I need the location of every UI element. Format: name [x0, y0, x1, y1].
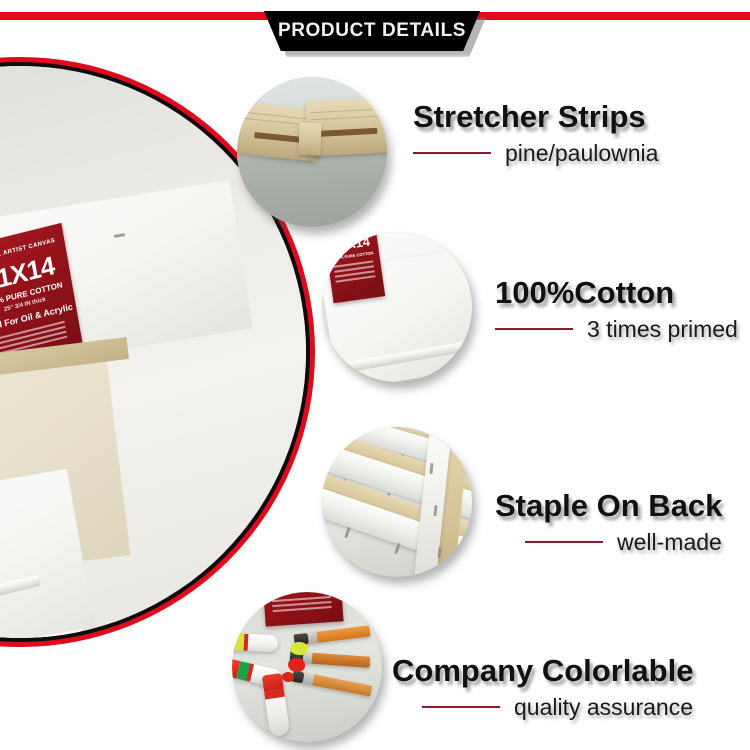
feature-subheading: 3 times primed: [587, 316, 738, 343]
feature-subheading-row: pine/paulownia: [413, 140, 658, 167]
feature-subheading-row: 3 times primed: [495, 316, 738, 343]
paint-tubes-and-brushes-photo: [232, 592, 382, 742]
tube-band: [264, 689, 285, 699]
product-details-infographic: PRODUCT DETAILS TENCEL ARTIST CANVAS 11X…: [0, 0, 750, 750]
paint-blob-yellow: [290, 642, 308, 655]
accent-rule: [525, 541, 603, 543]
feature-text-company-colorlable: Company Colorlable quality assurance: [392, 655, 693, 721]
strip-groove: [311, 115, 387, 121]
feature-heading: 100%Cotton: [495, 277, 738, 310]
label-detail-lines: [334, 260, 376, 285]
stapled-canvas-backs-photo: [322, 427, 472, 577]
feature-heading: Stretcher Strips: [413, 101, 658, 134]
paint-blob-red: [288, 658, 305, 672]
accent-rule: [495, 328, 573, 330]
paint-blob-red-small: [282, 672, 294, 682]
strip-groove: [310, 108, 387, 114]
brush-ferrule: [307, 632, 317, 644]
feature-image-company-colorlable: [232, 592, 382, 742]
paint-tube-yellow: [232, 632, 278, 652]
card-detail-lines: [272, 596, 332, 615]
tube-color-swatch: [235, 633, 245, 650]
pine-strip-tenon: [298, 123, 321, 156]
feature-text-staple-on-back: Staple On Back well-made: [495, 490, 722, 556]
red-product-card: [262, 592, 343, 627]
brush-ferrule: [303, 673, 315, 686]
feature-heading: Company Colorlable: [392, 655, 693, 688]
feature-image-cotton: TENCEL ARTIST CANVAS 11X14 100% PURE COT…: [322, 232, 472, 382]
feature-heading: Staple On Back: [495, 490, 722, 523]
feature-subheading: well-made: [617, 529, 722, 556]
feature-text-cotton: 100%Cotton 3 times primed: [495, 277, 738, 343]
banner-title: PRODUCT DETAILS: [258, 11, 486, 51]
feature-subheading: pine/paulownia: [505, 140, 658, 167]
feature-subheading: quality assurance: [514, 694, 693, 721]
feature-image-staple-on-back: [322, 427, 472, 577]
canvas-product-label: TENCEL ARTIST CANVAS 11X14 100% PURE COT…: [323, 232, 385, 303]
strip-mortise-notch: [315, 128, 377, 137]
pine-stretcher-strips-photo: [237, 77, 387, 227]
product-details-banner: PRODUCT DETAILS: [258, 11, 494, 59]
accent-rule: [422, 706, 500, 708]
feature-image-stretcher-strips: [237, 77, 387, 227]
feature-text-stretcher-strips: Stretcher Strips pine/paulownia: [413, 101, 658, 167]
feature-subheading-row: well-made: [495, 529, 722, 556]
accent-rule: [413, 152, 491, 154]
primed-cotton-canvas-photo: TENCEL ARTIST CANVAS 11X14 100% PURE COT…: [322, 232, 472, 382]
feature-subheading-row: quality assurance: [392, 694, 693, 721]
